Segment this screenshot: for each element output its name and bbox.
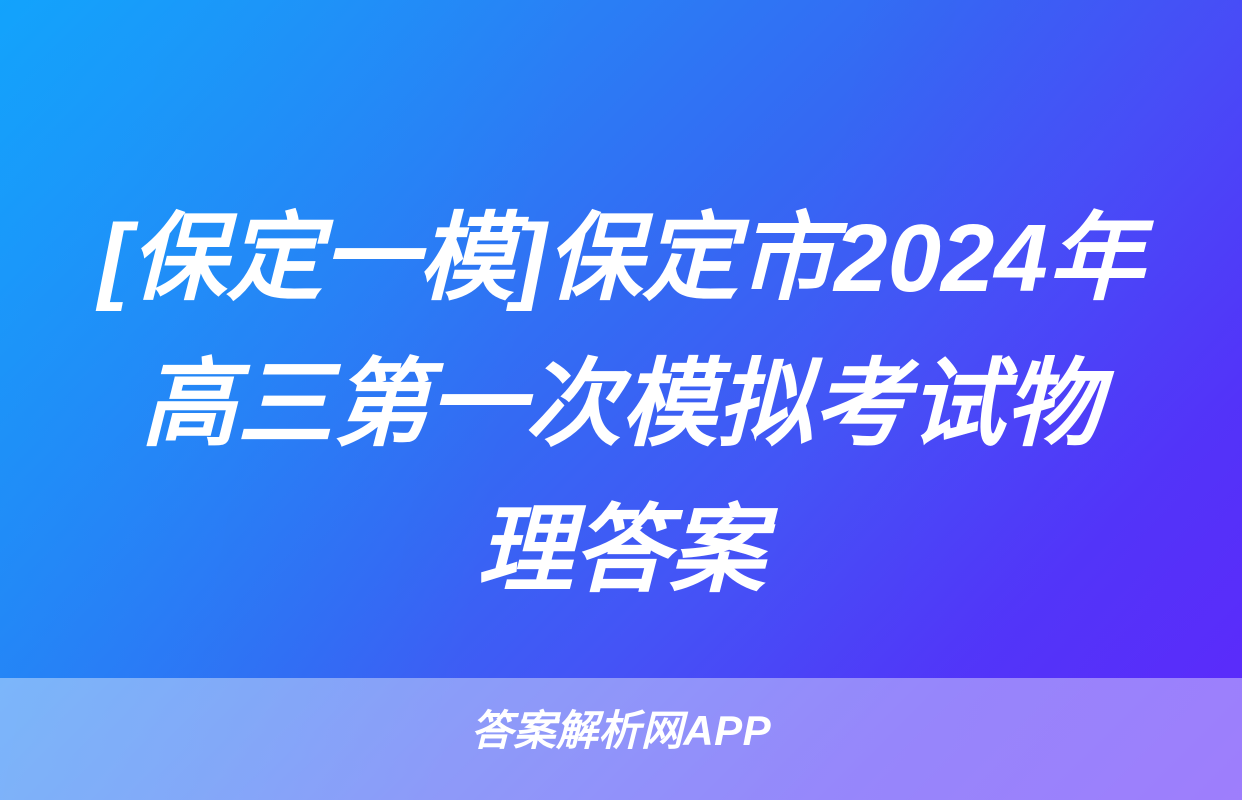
share-card: [保定一模]保定市2024年高三第一次模拟考试物理答案 答案解析网APP — [0, 0, 1242, 800]
page-title: [保定一模]保定市2024年高三第一次模拟考试物理答案 — [0, 186, 1242, 624]
app-watermark: 答案解析网APP — [0, 706, 1242, 756]
